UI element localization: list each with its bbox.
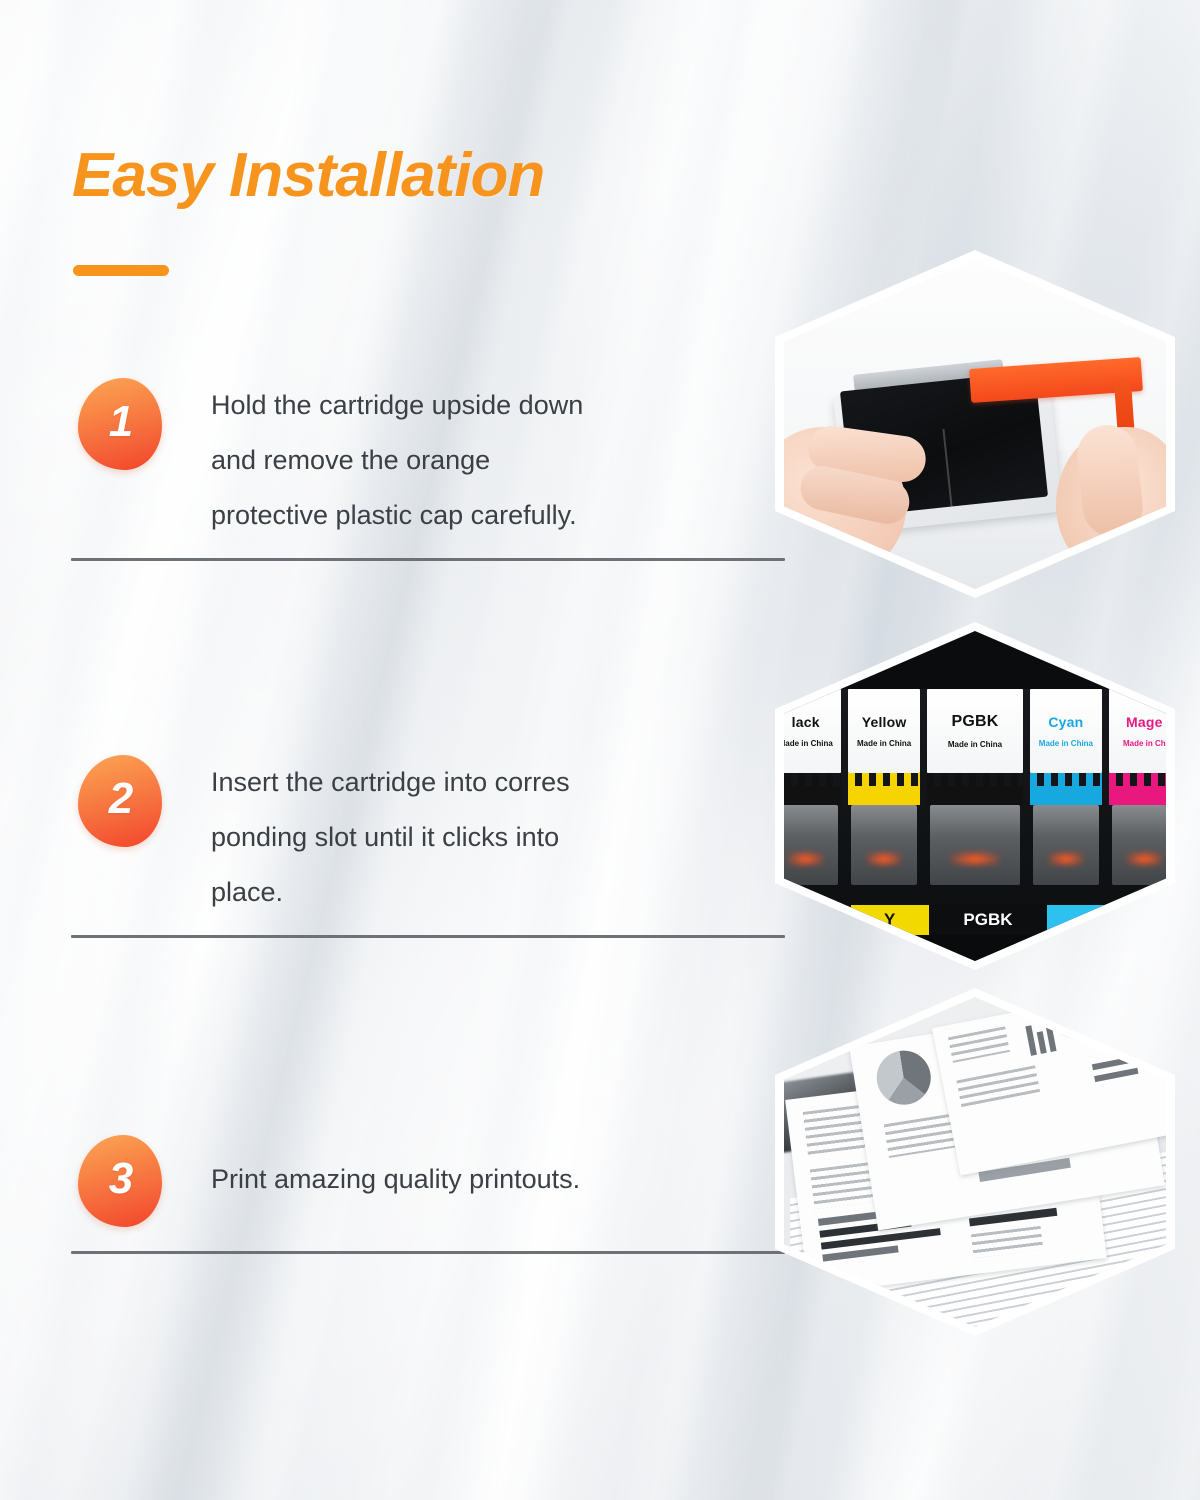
cartridge-tank [1112,805,1166,885]
cartridge-origin: Made in Ch [1123,739,1166,748]
cartridge-comb [927,773,1023,805]
sheet-pie-chart [873,1047,935,1109]
cartridge-cyan: Cyan Made in China [1030,689,1101,885]
sheet-text-block [948,1026,1010,1063]
photo-hexagon-3 [775,988,1175,1336]
slot-tab-pgbk: PGBK [929,905,1048,935]
step-number-badge-2: 2 [78,755,162,847]
step-divider-3 [71,1251,785,1254]
cartridge-tank [930,805,1020,885]
comb-base [1109,786,1166,805]
cartridge-pgbk: PGBK Made in China [927,689,1023,885]
cartridge-origin: Made in China [948,740,1002,749]
step-text-1: Hold the cartridge upside down and remov… [211,378,771,543]
cartridge-black: lack Made in China [784,689,841,885]
cartridge-name: Yellow [862,714,907,730]
sheet-bar [1094,1068,1138,1082]
step-divider-1 [71,558,785,561]
cartridge-name: Mage [1126,714,1163,730]
comb-base [848,786,919,805]
comb-base [784,786,841,805]
cartridge-magenta: Mage Made in Ch [1109,689,1166,885]
cartridge-label: Cyan Made in China [1030,689,1101,773]
step-text-2: Insert the cartridge into corres ponding… [211,755,771,920]
cartridge-name: PGBK [951,713,998,731]
cartridge-row: lack Made in China Yellow Made in China [784,689,1166,885]
cartridge-comb [1109,773,1166,805]
cartridge-origin: Made in China [784,739,833,748]
cartridge-tank [1033,805,1098,885]
cartridge-name: Cyan [1048,714,1083,730]
step-text-line: Insert the cartridge into corres [211,755,771,810]
slot-tab-spacer [1129,905,1166,935]
sheet-text-block [971,1226,1043,1258]
cartridge-comb [848,773,919,805]
cartridge-yellow: Yellow Made in China [848,689,919,885]
step-text-line: place. [211,865,771,920]
sheet-bar [1037,1031,1047,1054]
sheet-text-block [956,1065,1040,1110]
cartridge-label: PGBK Made in China [927,689,1023,773]
photo-hexagon-2: lack Made in China Yellow Made in China [775,622,1175,970]
cartridge-origin: Made in China [1039,739,1093,748]
step-divider-2 [71,935,785,938]
cartridge-tank [784,805,838,885]
step-text-line: and remove the orange [211,433,771,488]
step-text-3: Print amazing quality printouts. [211,1152,771,1207]
sheet-bar [1025,1025,1037,1056]
comb-base [1030,786,1101,805]
title-accent-bar [73,265,169,276]
step-text-line: Hold the cartridge upside down [211,378,771,433]
step-number-1: 1 [78,378,162,470]
step-number-3: 3 [78,1135,162,1227]
step-number-badge-3: 3 [78,1135,162,1227]
content-layer: Easy Installation 1 Hold the cartridge u… [0,0,1200,1500]
cartridge-label: Yellow Made in China [848,689,919,773]
step-text-line: Print amazing quality printouts. [211,1152,771,1207]
step-text-line: protective plastic cap carefully. [211,488,771,543]
photo-hexagon-1 [775,250,1175,598]
bay-base-bar [784,935,1166,961]
page-title: Easy Installation [72,140,544,211]
comb-base [927,786,1023,805]
step-number-badge-1: 1 [78,378,162,470]
cartridge-origin: Made in China [857,739,911,748]
cartridge-comb [1030,773,1101,805]
step-number-2: 2 [78,755,162,847]
cartridge-tank [851,805,916,885]
cartridge-comb [784,773,841,805]
cartridge-name: lack [792,714,820,730]
step-text-line: ponding slot until it clicks into [211,810,771,865]
